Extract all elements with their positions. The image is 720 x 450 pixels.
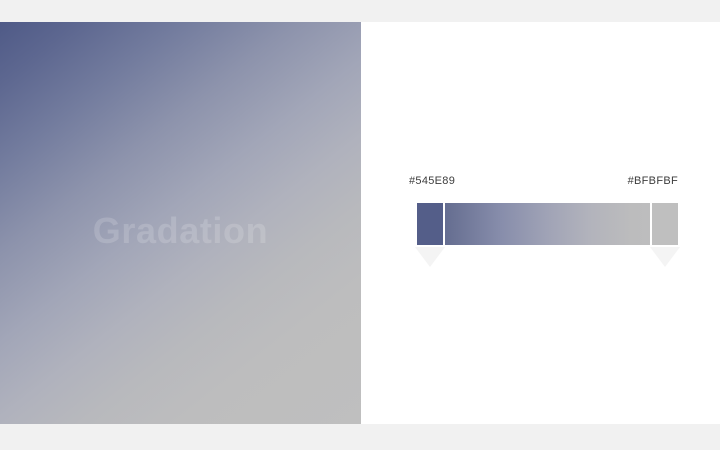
gradient-swatch-panel: #545E89 #BFBFBF bbox=[361, 22, 720, 424]
hex-label-end: #BFBFBF bbox=[628, 173, 678, 189]
triangle-down-icon-end[interactable] bbox=[650, 247, 680, 267]
preview-stage: Gradation #545E89 #BFBFBF bbox=[0, 22, 720, 424]
gradient-preview-panel: Gradation bbox=[0, 22, 361, 424]
hex-label-row: #545E89 #BFBFBF bbox=[409, 173, 678, 189]
color-stop-handle-end[interactable] bbox=[650, 201, 680, 247]
gradient-bar[interactable] bbox=[417, 203, 678, 245]
hex-label-start: #545E89 bbox=[409, 173, 455, 189]
gradient-bar-ramp bbox=[417, 203, 678, 245]
page-title: Gradation bbox=[0, 213, 361, 249]
color-stop-handle-start[interactable] bbox=[415, 201, 445, 247]
triangle-down-icon-start[interactable] bbox=[415, 247, 445, 267]
